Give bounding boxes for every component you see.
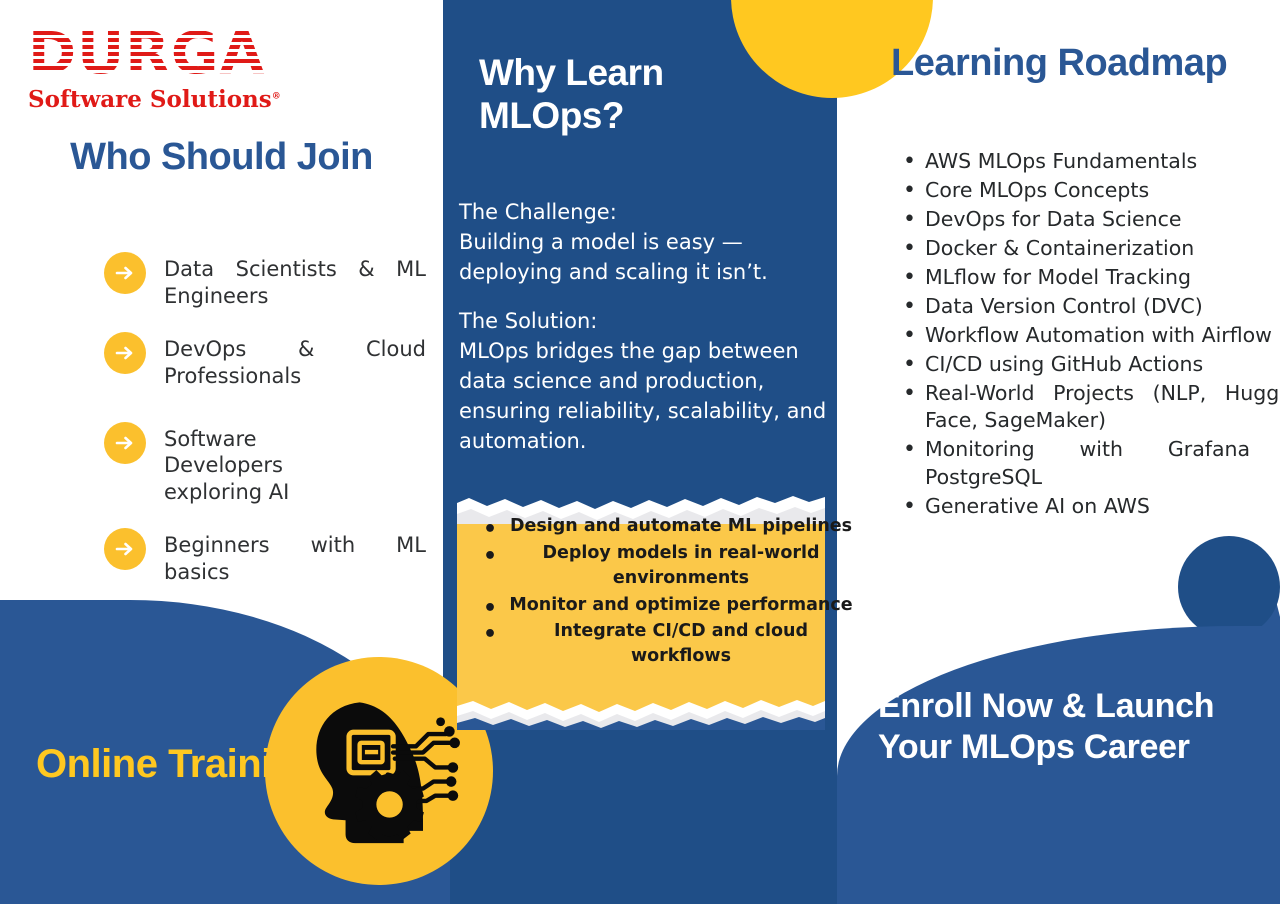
list-item: Data Scientists & ML Engineers (104, 252, 434, 310)
solution-text: MLOps bridges the gap between data scien… (459, 339, 826, 452)
list-item: DevOps for Data Science (925, 206, 1280, 233)
who-should-join-list: Data Scientists & ML Engineers DevOps & … (104, 252, 434, 608)
learning-roadmap-title: Learning Roadmap (891, 42, 1251, 85)
solution-block: The Solution: MLOps bridges the gap betw… (459, 307, 831, 456)
list-item: Workflow Automation with Airflow (925, 322, 1280, 349)
card-bullet-list: Design and automate ML pipelines Deploy … (471, 514, 863, 671)
list-item: Integrate CI/CD and cloud workflows (509, 619, 853, 669)
list-item: CI/CD using GitHub Actions (925, 351, 1280, 378)
right-column: Learning Roadmap AWS MLOps Fundamentals … (837, 0, 1280, 904)
list-item: MLflow for Model Tracking (925, 264, 1280, 291)
list-item: Real-World Projects (NLP, Hugging Face, … (925, 380, 1280, 434)
list-item: Monitor and optimize performance (509, 593, 853, 618)
why-learn-mlops-title: Why Learn MLOps? (479, 52, 809, 138)
list-item: Data Version Control (DVC) (925, 293, 1280, 320)
list-item-label: DevOps & Cloud Professionals (164, 332, 426, 390)
list-item: AWS MLOps Fundamentals (925, 148, 1280, 175)
arrow-right-icon (104, 252, 146, 294)
torn-edge-bottom-icon (457, 694, 825, 730)
logo-wordmark: DURGA (28, 24, 288, 82)
torn-paper-card: Design and automate ML pipelines Deploy … (457, 490, 825, 730)
logo-tagline-text: Software Solutions (28, 86, 272, 113)
who-should-join-title: Who Should Join (0, 136, 443, 179)
list-item: DevOps & Cloud Professionals (104, 332, 434, 390)
challenge-block: The Challenge: Building a model is easy … (459, 198, 831, 287)
logo-trademark: ® (272, 91, 281, 101)
arrow-right-icon (104, 528, 146, 570)
list-item: Design and automate ML pipelines (509, 514, 853, 539)
list-item: Software Developers exploring AI (104, 422, 434, 507)
enroll-cta-text: Enroll Now & Launch Your MLOps Career (878, 686, 1218, 768)
roadmap-list: AWS MLOps Fundamentals Core MLOps Concep… (885, 148, 1280, 522)
center-column: Why Learn MLOps? The Challenge: Building… (443, 0, 837, 904)
solution-label: The Solution: (459, 307, 831, 337)
challenge-text: Building a model is easy — deploying and… (459, 230, 768, 284)
list-item-label: Beginners with ML basics (164, 528, 426, 586)
list-item: Docker & Containerization (925, 235, 1280, 262)
list-item: Generative AI on AWS (925, 493, 1280, 520)
logo-wordmark-text: DURGA (28, 19, 265, 87)
arrow-right-icon (104, 422, 146, 464)
challenge-label: The Challenge: (459, 198, 831, 228)
list-item: Monitoring with Grafana & PostgreSQL (925, 436, 1280, 490)
logo-tagline: Software Solutions® (28, 86, 288, 113)
durga-logo: DURGA Software Solutions® (28, 24, 288, 113)
list-item: Deploy models in real-world environments (509, 541, 853, 591)
list-item-label: Software Developers exploring AI (164, 422, 314, 507)
list-item: Core MLOps Concepts (925, 177, 1280, 204)
list-item: Beginners with ML basics (104, 528, 434, 586)
arrow-right-icon (104, 332, 146, 374)
list-item-label: Data Scientists & ML Engineers (164, 252, 426, 310)
center-body-text: The Challenge: Building a model is easy … (459, 198, 831, 477)
infographic-poster: DURGA Software Solutions® Who Should Joi… (0, 0, 1280, 904)
